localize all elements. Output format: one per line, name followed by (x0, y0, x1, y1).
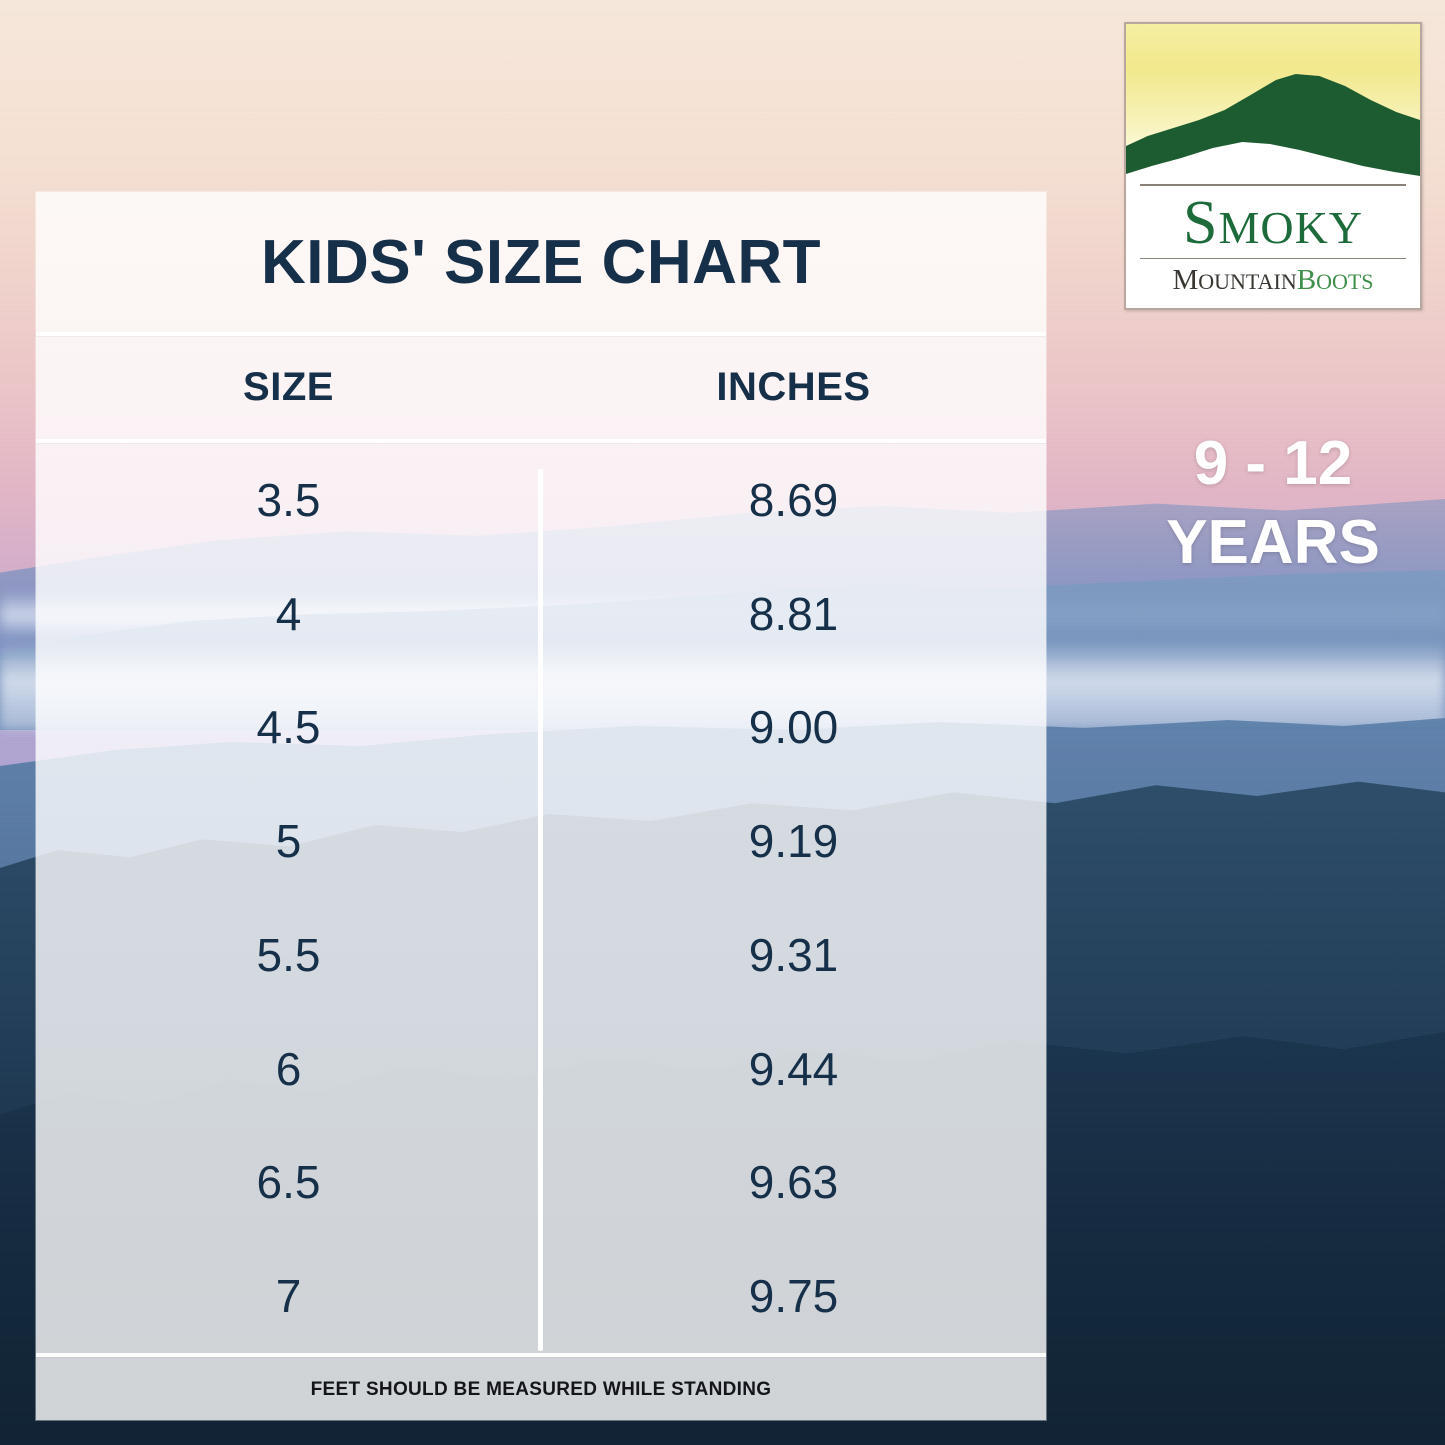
mountain-icon (1126, 24, 1420, 184)
column-header-inches: INCHES (541, 365, 1046, 410)
cell-inches: 9.44 (541, 1042, 1046, 1096)
cell-inches: 8.81 (541, 587, 1046, 641)
column-separator-line (538, 469, 543, 1351)
logo-wordmark-secondary: MOUNTAINBOOTS (1126, 259, 1420, 297)
size-chart-panel: KIDS' SIZE CHART SIZE INCHES 3.5 8.69 4 … (36, 192, 1046, 1420)
age-range-line-2: YEARS (1120, 503, 1426, 582)
measurement-note: FEET SHOULD BE MEASURED WHILE STANDING (311, 1379, 772, 1401)
cell-size: 7 (36, 1269, 541, 1323)
cell-inches: 9.75 (541, 1269, 1046, 1323)
cell-size: 4 (36, 587, 541, 641)
page-title: KIDS' SIZE CHART (36, 192, 1046, 294)
cell-size: 6.5 (36, 1155, 541, 1209)
cell-inches: 9.63 (541, 1155, 1046, 1209)
cell-size: 5 (36, 814, 541, 868)
table-body: 3.5 8.69 4 8.81 4.5 9.00 5 9.19 5.5 9.31… (36, 443, 1046, 1353)
size-chart-graphic: SMOKY MOUNTAINBOOTS 9 - 12 YEARS KIDS' S… (0, 0, 1445, 1445)
age-range-badge: 9 - 12 YEARS (1120, 424, 1426, 583)
logo-mountain-illustration (1126, 24, 1420, 184)
logo-wordmark-primary: SMOKY (1126, 186, 1420, 256)
age-range-line-1: 9 - 12 (1120, 424, 1426, 503)
cell-size: 5.5 (36, 928, 541, 982)
cell-inches: 8.69 (541, 473, 1046, 527)
cell-inches: 9.00 (541, 700, 1046, 754)
column-header-size: SIZE (36, 365, 541, 410)
footnote-row: FEET SHOULD BE MEASURED WHILE STANDING (36, 1357, 1046, 1422)
cell-inches: 9.19 (541, 814, 1046, 868)
cell-size: 3.5 (36, 473, 541, 527)
cell-inches: 9.31 (541, 928, 1046, 982)
cell-size: 4.5 (36, 700, 541, 754)
smoky-mountain-boots-logo: SMOKY MOUNTAINBOOTS (1124, 22, 1422, 310)
table-header-row: SIZE INCHES (36, 336, 1046, 439)
cell-size: 6 (36, 1042, 541, 1096)
